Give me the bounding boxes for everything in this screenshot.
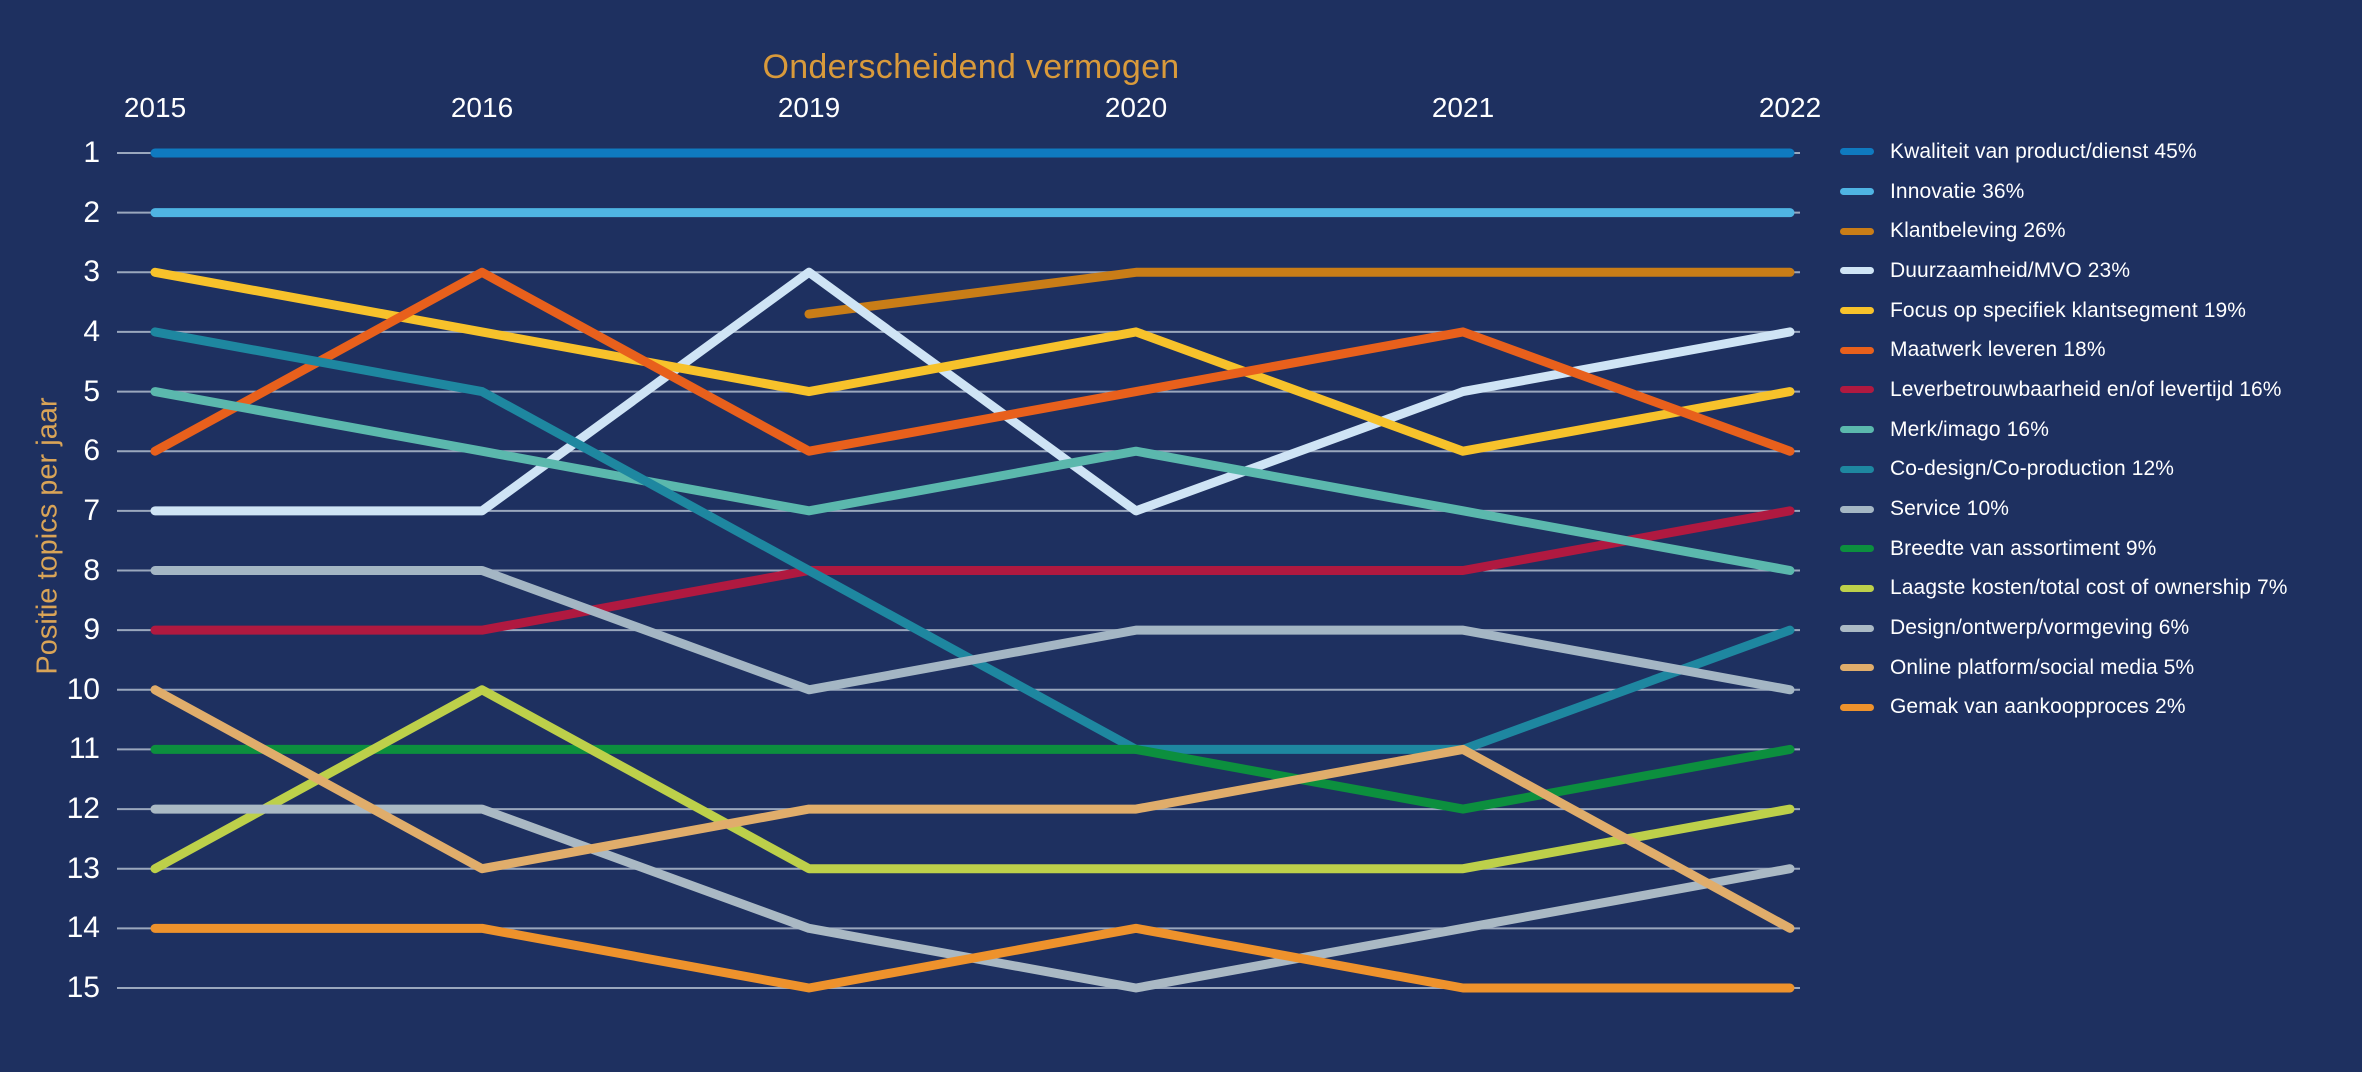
legend-label: Laagste kosten/total cost of ownership 7…: [1890, 576, 2288, 600]
legend-item[interactable]: Design/ontwerp/vormgeving 6%: [1840, 608, 2360, 648]
legend-label: Maatwerk leveren 18%: [1890, 338, 2106, 362]
legend-color-swatch: [1840, 625, 1874, 632]
legend-item[interactable]: Co-design/Co-production 12%: [1840, 450, 2360, 490]
legend-item[interactable]: Merk/imago 16%: [1840, 410, 2360, 450]
line-chart-svg: [0, 0, 1830, 1072]
legend-label: Co-design/Co-production 12%: [1890, 457, 2174, 481]
legend-item[interactable]: Laagste kosten/total cost of ownership 7…: [1840, 569, 2360, 609]
series-line[interactable]: [809, 272, 1790, 314]
legend-label: Duurzaamheid/MVO 23%: [1890, 259, 2130, 283]
legend-color-swatch: [1840, 307, 1874, 314]
legend-color-swatch: [1840, 347, 1874, 354]
legend-color-swatch: [1840, 466, 1874, 473]
legend-item[interactable]: Gemak van aankoopproces 2%: [1840, 688, 2360, 728]
legend-item[interactable]: Breedte van assortiment 9%: [1840, 529, 2360, 569]
legend-color-swatch: [1840, 545, 1874, 552]
legend-color-swatch: [1840, 506, 1874, 513]
legend-color-swatch: [1840, 188, 1874, 195]
legend-item[interactable]: Klantbeleving 26%: [1840, 211, 2360, 251]
legend-label: Gemak van aankoopproces 2%: [1890, 695, 2186, 719]
x-tick-label: 2020: [1105, 92, 1167, 124]
x-tick-label: 2015: [124, 92, 186, 124]
legend-label: Focus op specifiek klantsegment 19%: [1890, 299, 2246, 323]
y-tick-label: 11: [40, 732, 100, 766]
legend-item[interactable]: Duurzaamheid/MVO 23%: [1840, 251, 2360, 291]
legend-item[interactable]: Kwaliteit van product/dienst 45%: [1840, 132, 2360, 172]
legend-item[interactable]: Innovatie 36%: [1840, 172, 2360, 212]
legend-label: Innovatie 36%: [1890, 180, 2024, 204]
legend-label: Leverbetrouwbaarheid en/of levertijd 16%: [1890, 378, 2282, 402]
y-tick-label: 10: [40, 673, 100, 707]
y-tick-label: 2: [40, 196, 100, 230]
legend-item[interactable]: Maatwerk leveren 18%: [1840, 330, 2360, 370]
legend-item[interactable]: Leverbetrouwbaarheid en/of levertijd 16%: [1840, 370, 2360, 410]
legend-color-swatch: [1840, 664, 1874, 671]
y-axis-title: Positie topics per jaar: [32, 397, 65, 674]
y-tick-label: 4: [40, 315, 100, 349]
y-tick-label: 15: [40, 971, 100, 1005]
legend-item[interactable]: Online platform/social media 5%: [1840, 648, 2360, 688]
legend-color-swatch: [1840, 148, 1874, 155]
x-tick-label: 2019: [778, 92, 840, 124]
y-tick-label: 13: [40, 852, 100, 886]
chart-root: Onderscheidend vermogen 1234567891011121…: [0, 0, 2362, 1072]
y-tick-label: 3: [40, 255, 100, 289]
legend-color-swatch: [1840, 704, 1874, 711]
series-line[interactable]: [155, 928, 1790, 988]
x-tick-label: 2016: [451, 92, 513, 124]
y-tick-label: 1: [40, 136, 100, 170]
legend-label: Service 10%: [1890, 497, 2009, 521]
legend-item[interactable]: Focus op specifiek klantsegment 19%: [1840, 291, 2360, 331]
legend-label: Design/ontwerp/vormgeving 6%: [1890, 616, 2189, 640]
legend-label: Kwaliteit van product/dienst 45%: [1890, 140, 2197, 164]
series-line[interactable]: [155, 749, 1790, 809]
x-tick-label: 2021: [1432, 92, 1494, 124]
legend-color-swatch: [1840, 585, 1874, 592]
legend-color-swatch: [1840, 386, 1874, 393]
legend-color-swatch: [1840, 426, 1874, 433]
legend-color-swatch: [1840, 267, 1874, 274]
plot-area: 123456789101112131415 201520162019202020…: [0, 0, 1830, 1072]
legend-label: Klantbeleving 26%: [1890, 219, 2066, 243]
legend-label: Online platform/social media 5%: [1890, 656, 2194, 680]
y-tick-label: 12: [40, 792, 100, 826]
chart-legend: Kwaliteit van product/dienst 45%Innovati…: [1840, 132, 2360, 727]
legend-label: Breedte van assortiment 9%: [1890, 537, 2156, 561]
x-tick-label: 2022: [1759, 92, 1821, 124]
legend-color-swatch: [1840, 228, 1874, 235]
y-tick-label: 14: [40, 911, 100, 945]
legend-label: Merk/imago 16%: [1890, 418, 2049, 442]
legend-item[interactable]: Service 10%: [1840, 489, 2360, 529]
